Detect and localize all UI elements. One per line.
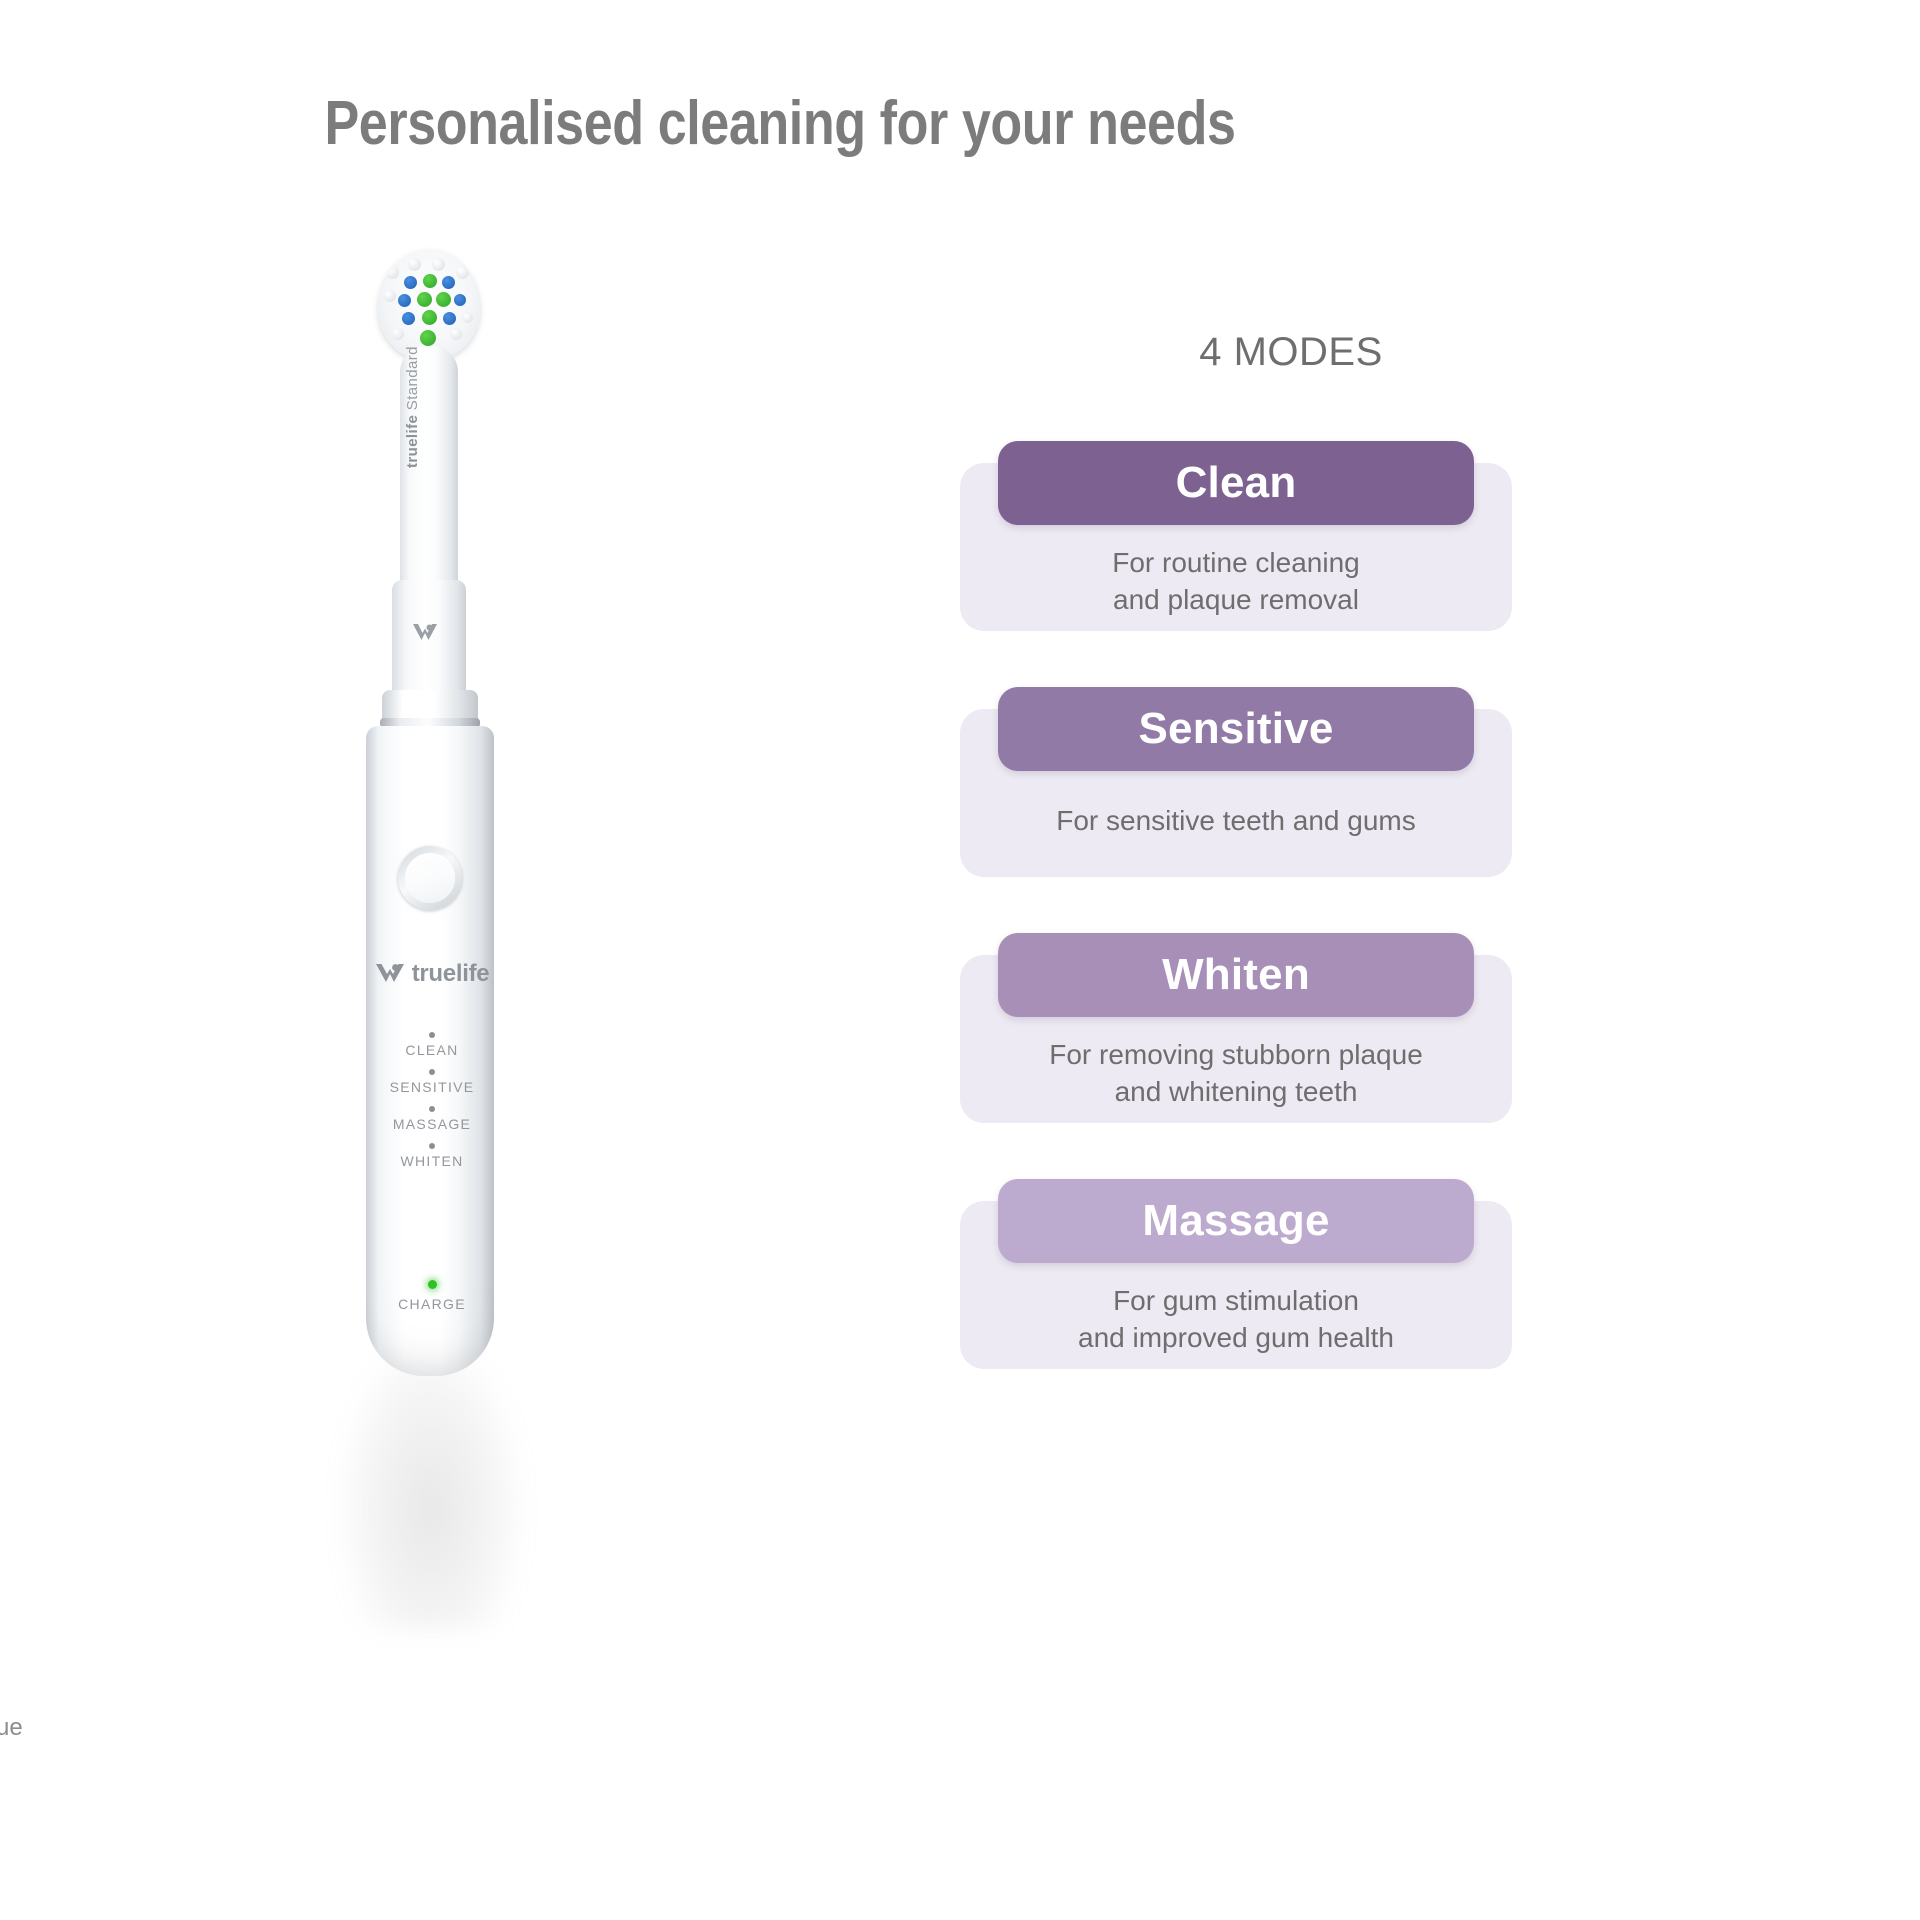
charge-label: CHARGE bbox=[356, 1296, 508, 1312]
neck-brand-model: Standard bbox=[404, 346, 421, 410]
mode-card-description: For routine cleaning and plaque removal bbox=[998, 545, 1474, 619]
handle-mode-massage: MASSAGE bbox=[356, 1106, 508, 1132]
handle-wordmark: truelife bbox=[412, 960, 490, 988]
mode-card-description: For gum stimulation and improved gum hea… bbox=[998, 1283, 1474, 1357]
product-image: truelife Standard truelife bbox=[300, 250, 660, 1670]
neck-branding-text: truelife Standard bbox=[404, 278, 421, 468]
mode-desc-line: and whitening teeth bbox=[998, 1074, 1474, 1111]
modes-heading: 4 MODES bbox=[1022, 330, 1560, 375]
mode-card-description: For sensitive teeth and gums bbox=[998, 803, 1474, 840]
mode-desc-line: and improved gum health bbox=[998, 1320, 1474, 1357]
handle-mode-label: SENSITIVE bbox=[356, 1079, 508, 1095]
handle-mode-sensitive: SENSITIVE bbox=[356, 1069, 508, 1095]
truelife-logo-icon bbox=[412, 622, 438, 644]
mode-card-header: Whiten bbox=[998, 933, 1474, 1017]
mode-card-whiten[interactable]: Whiten For removing stubborn plaque and … bbox=[960, 933, 1560, 1123]
charge-led-icon bbox=[428, 1280, 437, 1289]
led-indicator-icon bbox=[429, 1032, 435, 1038]
corner-text-fragment: ue bbox=[0, 1714, 23, 1742]
mode-card-header: Clean bbox=[998, 441, 1474, 525]
mode-card-clean[interactable]: Clean For routine cleaning and plaque re… bbox=[960, 441, 1560, 631]
infographic-page: Personalised cleaning for your needs bbox=[0, 0, 1920, 1920]
mode-card-sensitive[interactable]: Sensitive For sensitive teeth and gums bbox=[960, 687, 1560, 877]
brush-head-bristles bbox=[378, 250, 480, 360]
mode-card-header: Sensitive bbox=[998, 687, 1474, 771]
led-indicator-icon bbox=[429, 1143, 435, 1149]
power-button[interactable] bbox=[398, 846, 462, 910]
mode-card-massage[interactable]: Massage For gum stimulation and improved… bbox=[960, 1179, 1560, 1369]
neck-brand-name: truelife bbox=[404, 415, 421, 468]
truelife-logo-icon bbox=[375, 961, 405, 987]
mode-desc-line: For routine cleaning bbox=[998, 545, 1474, 582]
mode-card-title: Clean bbox=[1176, 458, 1297, 508]
handle-mode-indicators: CLEAN SENSITIVE MASSAGE WHITEN bbox=[356, 1032, 508, 1180]
mode-desc-line: For sensitive teeth and gums bbox=[998, 803, 1474, 840]
page-title: Personalised cleaning for your needs bbox=[125, 88, 1435, 159]
led-indicator-icon bbox=[429, 1106, 435, 1112]
mode-desc-line: For gum stimulation bbox=[998, 1283, 1474, 1320]
led-indicator-icon bbox=[429, 1069, 435, 1075]
mode-desc-line: and plaque removal bbox=[998, 582, 1474, 619]
handle-mode-whiten: WHITEN bbox=[356, 1143, 508, 1169]
mode-card-description: For removing stubborn plaque and whiteni… bbox=[998, 1037, 1474, 1111]
handle-mode-clean: CLEAN bbox=[356, 1032, 508, 1058]
mode-card-title: Whiten bbox=[1162, 950, 1310, 1000]
mode-card-header: Massage bbox=[998, 1179, 1474, 1263]
power-button-inner bbox=[405, 853, 455, 903]
mode-card-title: Massage bbox=[1142, 1196, 1329, 1246]
handle-mode-label: MASSAGE bbox=[356, 1116, 508, 1132]
handle-charge-indicator: CHARGE bbox=[356, 1280, 508, 1312]
mode-desc-line: For removing stubborn plaque bbox=[998, 1037, 1474, 1074]
mode-card-title: Sensitive bbox=[1138, 704, 1333, 754]
handle-mode-label: CLEAN bbox=[356, 1042, 508, 1058]
modes-panel: 4 MODES Clean For routine cleaning and p… bbox=[960, 330, 1560, 1425]
handle-mode-label: WHITEN bbox=[356, 1153, 508, 1169]
handle-logo: truelife bbox=[358, 960, 506, 988]
